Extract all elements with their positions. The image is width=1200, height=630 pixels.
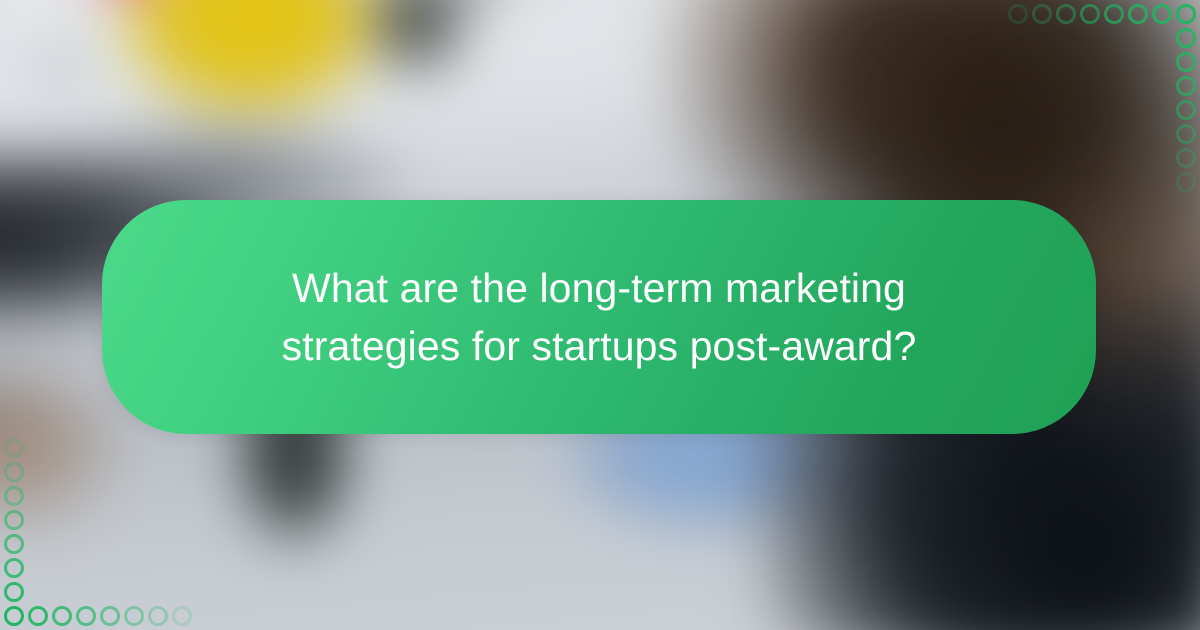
decor-circle-icon	[4, 534, 24, 554]
decor-dots-bottom-left-row	[4, 606, 192, 626]
decor-circle-icon	[4, 486, 24, 506]
decor-circle-icon	[172, 606, 192, 626]
decor-circle-icon	[4, 438, 24, 458]
decor-circle-icon	[1176, 76, 1196, 96]
question-card: What are the long-term marketing strateg…	[102, 200, 1096, 434]
decor-circle-icon	[1032, 4, 1052, 24]
decor-circle-icon	[1056, 4, 1076, 24]
decor-circle-icon	[4, 462, 24, 482]
decor-circle-icon	[1152, 4, 1172, 24]
decor-circle-icon	[1176, 28, 1196, 48]
share-card-canvas: What are the long-term marketing strateg…	[0, 0, 1200, 630]
decor-circle-icon	[1080, 4, 1100, 24]
decor-circle-icon	[4, 558, 24, 578]
decor-circle-icon	[52, 606, 72, 626]
decor-circle-icon	[124, 606, 144, 626]
decor-circle-icon	[1104, 4, 1124, 24]
decor-circle-icon	[148, 606, 168, 626]
decor-circle-icon	[4, 582, 24, 602]
decor-circle-icon	[1008, 4, 1028, 24]
decor-dots-top-right-column	[1176, 4, 1196, 192]
decor-circle-icon	[100, 606, 120, 626]
decor-circle-icon	[1128, 4, 1148, 24]
decor-circle-icon	[76, 606, 96, 626]
decor-circle-icon	[1176, 52, 1196, 72]
decor-circle-icon	[28, 606, 48, 626]
decor-circle-icon	[1176, 100, 1196, 120]
decor-dots-bottom-left-column	[4, 438, 24, 626]
decor-circle-icon	[1176, 124, 1196, 144]
question-text: What are the long-term marketing strateg…	[209, 259, 989, 375]
decor-dots-top-right-row	[1008, 4, 1196, 24]
decor-circle-icon	[1176, 172, 1196, 192]
decor-circle-icon	[1176, 148, 1196, 168]
decor-circle-icon	[4, 510, 24, 530]
